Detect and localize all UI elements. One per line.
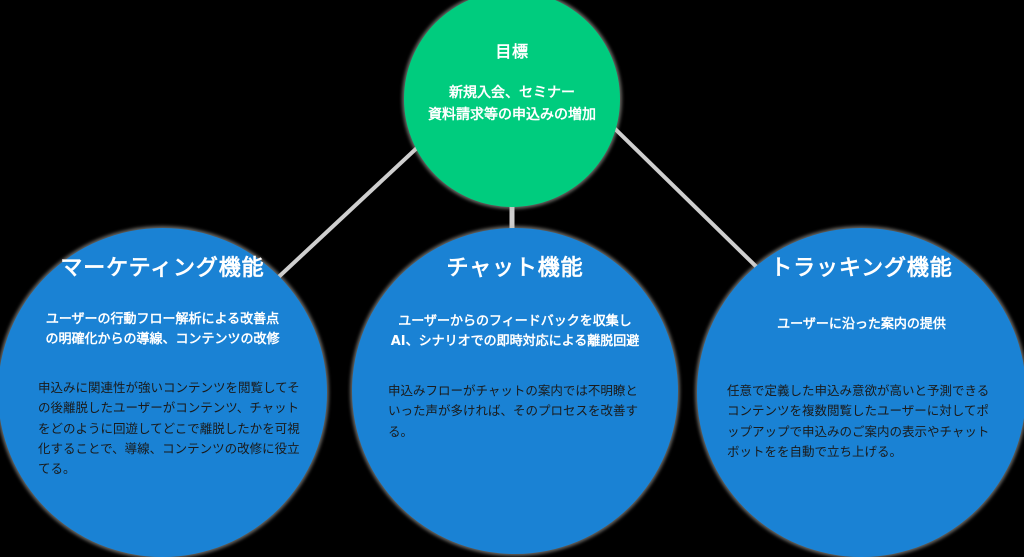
feature-node-tracking-title: トラッキング機能 (697, 256, 1024, 282)
feature-node-chat-subtitle: ユーザーからのフィードバックを収集し AI、シナリオでの即時対応による離脱回避 (352, 312, 678, 352)
feature-node-marketing-body: 申込みに関連性が強いコンテンツを閲覧してその後離脱したユーザーがコンテンツ、チャ… (38, 378, 300, 479)
feature-node-marketing-subtitle: ユーザーの行動フロー解析による改善点 の明確化からの導線、コンテンツの改修 (0, 310, 327, 350)
goal-node-subtitle: 新規入会、セミナー 資料請求等の申込みの増加 (404, 83, 620, 126)
feature-node-tracking-subtitle: ユーザーに沿った案内の提供 (697, 315, 1024, 335)
feature-node-chat-body: 申込みフローがチャットの案内では不明瞭といった声が多ければ、そのプロセスを改善す… (388, 381, 638, 442)
feature-node-tracking-body: 任意で定義した申込み意欲が高いと予測できるコンテンツを複数閲覧したユーザーに対し… (727, 381, 997, 462)
goal-node-title: 目標 (404, 42, 620, 61)
feature-node-marketing-title: マーケティング機能 (0, 256, 327, 282)
feature-node-chat-title: チャット機能 (352, 256, 678, 282)
hub-and-spoke-diagram: 目標 新規入会、セミナー 資料請求等の申込みの増加 マーケティング機能 ユーザー… (0, 0, 1024, 557)
